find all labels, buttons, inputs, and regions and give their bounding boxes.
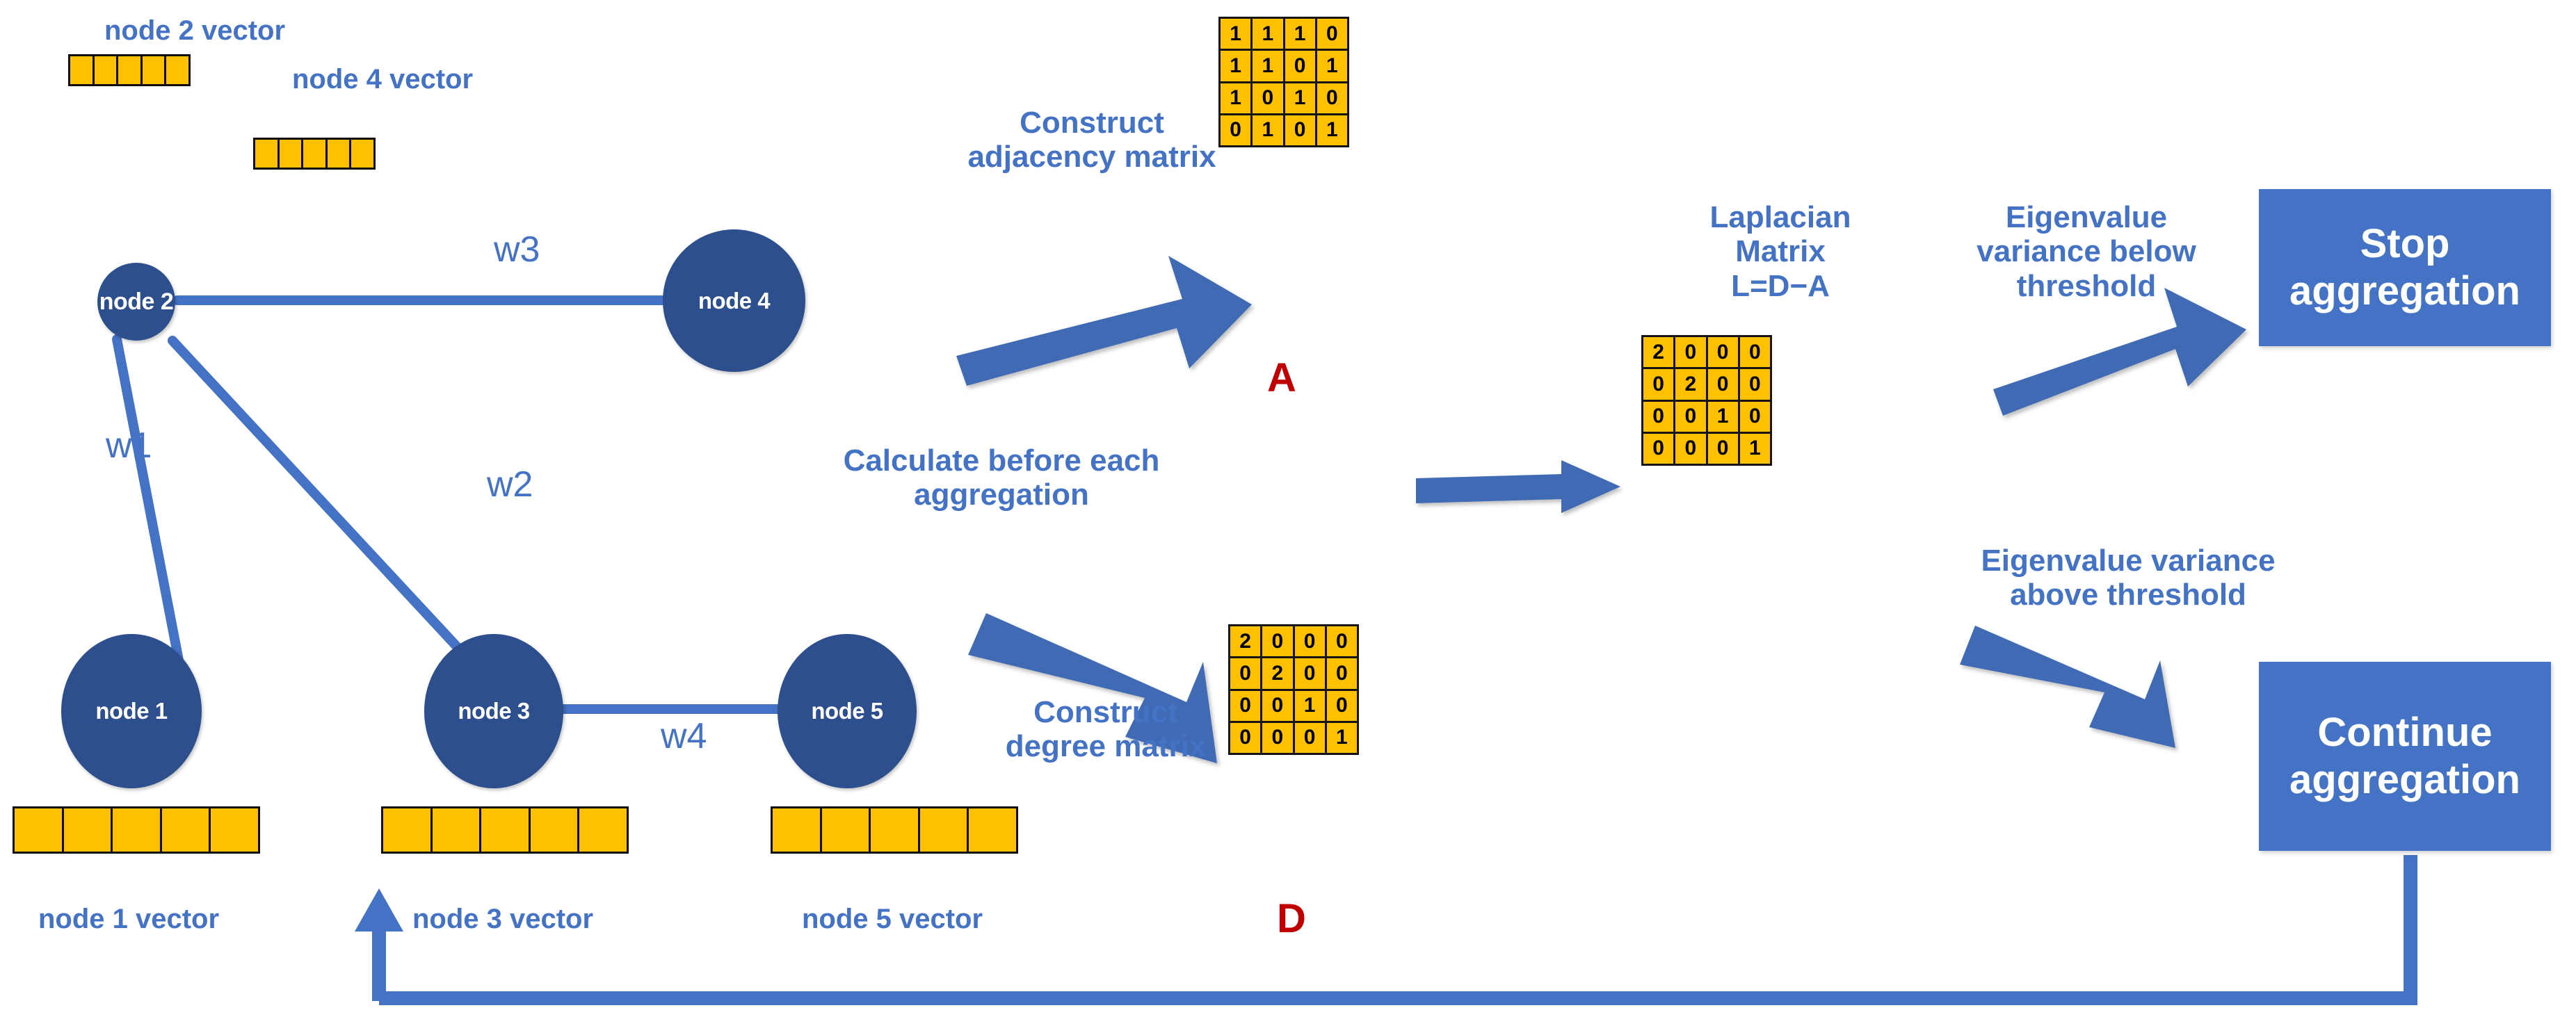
vector-cell bbox=[303, 140, 325, 168]
node-2-vector-caption: node 2 vector bbox=[77, 15, 313, 47]
edge-node2-node1 bbox=[117, 339, 179, 664]
matrix-cell: 0 bbox=[1262, 626, 1292, 656]
matrix-cell: 0 bbox=[1285, 115, 1315, 145]
matrix-cell: 0 bbox=[1327, 658, 1357, 688]
edge-weight-w3: w3 bbox=[494, 229, 540, 270]
matrix-cell: 0 bbox=[1285, 51, 1315, 81]
laplacian-matrix: 2000020000100001 bbox=[1641, 335, 1772, 466]
matrix-cell: 0 bbox=[1327, 626, 1357, 656]
matrix-cell: 0 bbox=[1230, 691, 1260, 721]
matrix-cell: 1 bbox=[1221, 51, 1250, 81]
graph-node-label: node 3 bbox=[458, 698, 529, 724]
vector-cell bbox=[579, 808, 627, 852]
matrix-cell: 0 bbox=[1230, 723, 1260, 753]
matrix-cell: 1 bbox=[1285, 19, 1315, 49]
arrow-construct-adjacency bbox=[956, 256, 1252, 386]
matrix-cell: 1 bbox=[1285, 83, 1315, 113]
matrix-cell: 0 bbox=[1327, 691, 1357, 721]
edge-node2-node3 bbox=[172, 341, 473, 664]
matrix-cell: 0 bbox=[1740, 369, 1770, 399]
vector-cell bbox=[773, 808, 820, 852]
arrow-to-stop bbox=[1993, 288, 2246, 416]
step-calculate-each-aggregation-label: Calculate before each aggregation bbox=[786, 444, 1217, 512]
edge-weight-w4: w4 bbox=[661, 716, 707, 756]
vector-cell bbox=[118, 56, 140, 84]
vector-cell bbox=[64, 808, 111, 852]
condition-below-threshold-label: Eigenvalue variance below threshold bbox=[1940, 200, 2232, 303]
graph-node-node1[interactable]: node 1 bbox=[61, 634, 202, 788]
step-construct-adjacency-label: Construct adjacency matrix bbox=[946, 106, 1238, 174]
matrix-cell: 0 bbox=[1708, 337, 1738, 367]
graph-node-node5[interactable]: node 5 bbox=[778, 634, 917, 788]
node-2-vector bbox=[68, 54, 191, 86]
matrix-cell: 1 bbox=[1317, 51, 1347, 81]
matrix-cell: 0 bbox=[1643, 369, 1673, 399]
matrix-cell: 0 bbox=[1675, 434, 1705, 464]
vector-cell bbox=[143, 56, 165, 84]
vector-cell bbox=[280, 140, 302, 168]
matrix-cell: 1 bbox=[1317, 115, 1347, 145]
matrix-cell: 0 bbox=[1317, 83, 1347, 113]
node-4-vector-caption: node 4 vector bbox=[264, 64, 501, 95]
matrix-cell: 0 bbox=[1295, 658, 1325, 688]
matrix-cell: 1 bbox=[1327, 723, 1357, 753]
matrix-cell: 1 bbox=[1253, 19, 1282, 49]
vector-cell bbox=[383, 808, 430, 852]
vector-cell bbox=[531, 808, 578, 852]
vector-cell bbox=[113, 808, 160, 852]
edge-weight-w1: w1 bbox=[106, 425, 152, 466]
vector-cell bbox=[328, 140, 350, 168]
vector-cell bbox=[166, 56, 188, 84]
connectors-layer bbox=[0, 0, 2576, 1033]
vector-cell bbox=[481, 808, 529, 852]
matrix-cell: 0 bbox=[1708, 369, 1738, 399]
vector-cell bbox=[351, 140, 373, 168]
matrix-cell: 1 bbox=[1708, 402, 1738, 432]
matrix-cell: 2 bbox=[1262, 658, 1292, 688]
matrix-cell: 0 bbox=[1708, 434, 1738, 464]
vector-cell bbox=[211, 808, 258, 852]
condition-above-threshold-label: Eigenvalue variance above threshold bbox=[1933, 544, 2323, 612]
node-5-vector-caption: node 5 vector bbox=[771, 904, 1014, 935]
matrix-cell: 0 bbox=[1317, 19, 1347, 49]
graph-node-label: node 2 bbox=[99, 288, 174, 316]
vector-cell bbox=[95, 56, 117, 84]
continue-aggregation-box[interactable]: Continue aggregation bbox=[2259, 662, 2551, 851]
vector-cell bbox=[15, 808, 62, 852]
stop-aggregation-box[interactable]: Stop aggregation bbox=[2259, 189, 2551, 346]
node-1-vector bbox=[13, 806, 260, 854]
matrix-cell: 2 bbox=[1643, 337, 1673, 367]
step-construct-degree-label: Construct degree matrix bbox=[974, 695, 1238, 764]
matrix-cell: 0 bbox=[1740, 337, 1770, 367]
graph-node-node3[interactable]: node 3 bbox=[424, 634, 563, 788]
node-3-vector-caption: node 3 vector bbox=[381, 904, 625, 935]
matrix-cell: 0 bbox=[1740, 402, 1770, 432]
degree-matrix-label: D bbox=[1228, 895, 1355, 942]
matrix-cell: 1 bbox=[1295, 691, 1325, 721]
matrix-cell: 2 bbox=[1230, 626, 1260, 656]
vector-cell bbox=[920, 808, 967, 852]
adjacency-matrix-label: A bbox=[1218, 355, 1345, 401]
matrix-cell: 0 bbox=[1230, 658, 1260, 688]
matrix-cell: 1 bbox=[1253, 115, 1282, 145]
graph-node-label: node 1 bbox=[95, 698, 167, 724]
graph-node-node4[interactable]: node 4 bbox=[663, 229, 805, 372]
feedback-loop-arrow bbox=[355, 855, 2410, 1001]
edge-weight-w2: w2 bbox=[487, 464, 533, 505]
matrix-cell: 0 bbox=[1295, 626, 1325, 656]
node-3-vector bbox=[381, 806, 629, 854]
matrix-cell: 0 bbox=[1221, 115, 1250, 145]
matrix-cell: 2 bbox=[1675, 369, 1705, 399]
matrix-cell: 0 bbox=[1295, 723, 1325, 753]
matrix-cell: 0 bbox=[1675, 337, 1705, 367]
matrix-cell: 0 bbox=[1262, 723, 1292, 753]
arrow-to-laplacian bbox=[1416, 460, 1620, 513]
vector-cell bbox=[822, 808, 869, 852]
matrix-cell: 0 bbox=[1675, 402, 1705, 432]
degree-matrix: 2000020000100001 bbox=[1228, 624, 1359, 755]
matrix-cell: 0 bbox=[1262, 691, 1292, 721]
graph-node-label: node 4 bbox=[698, 288, 770, 314]
matrix-cell: 1 bbox=[1221, 19, 1250, 49]
arrow-to-continue bbox=[1960, 626, 2175, 748]
vector-cell bbox=[969, 808, 1016, 852]
vector-cell bbox=[871, 808, 918, 852]
vector-cell bbox=[162, 808, 209, 852]
node-4-vector bbox=[253, 138, 376, 170]
matrix-cell: 0 bbox=[1253, 83, 1282, 113]
matrix-cell: 1 bbox=[1740, 434, 1770, 464]
graph-node-node2[interactable]: node 2 bbox=[97, 263, 175, 341]
laplacian-matrix-title: Laplacian Matrix L=D−A bbox=[1662, 200, 1899, 303]
node-5-vector bbox=[771, 806, 1018, 854]
matrix-cell: 0 bbox=[1643, 402, 1673, 432]
graph-node-label: node 5 bbox=[811, 698, 883, 724]
vector-cell bbox=[433, 808, 480, 852]
matrix-cell: 0 bbox=[1643, 434, 1673, 464]
vector-cell bbox=[70, 56, 92, 84]
matrix-cell: 1 bbox=[1221, 83, 1250, 113]
matrix-cell: 1 bbox=[1253, 51, 1282, 81]
node-1-vector-caption: node 1 vector bbox=[7, 904, 250, 935]
vector-cell bbox=[255, 140, 277, 168]
adjacency-matrix: 1110110110100101 bbox=[1218, 17, 1349, 147]
